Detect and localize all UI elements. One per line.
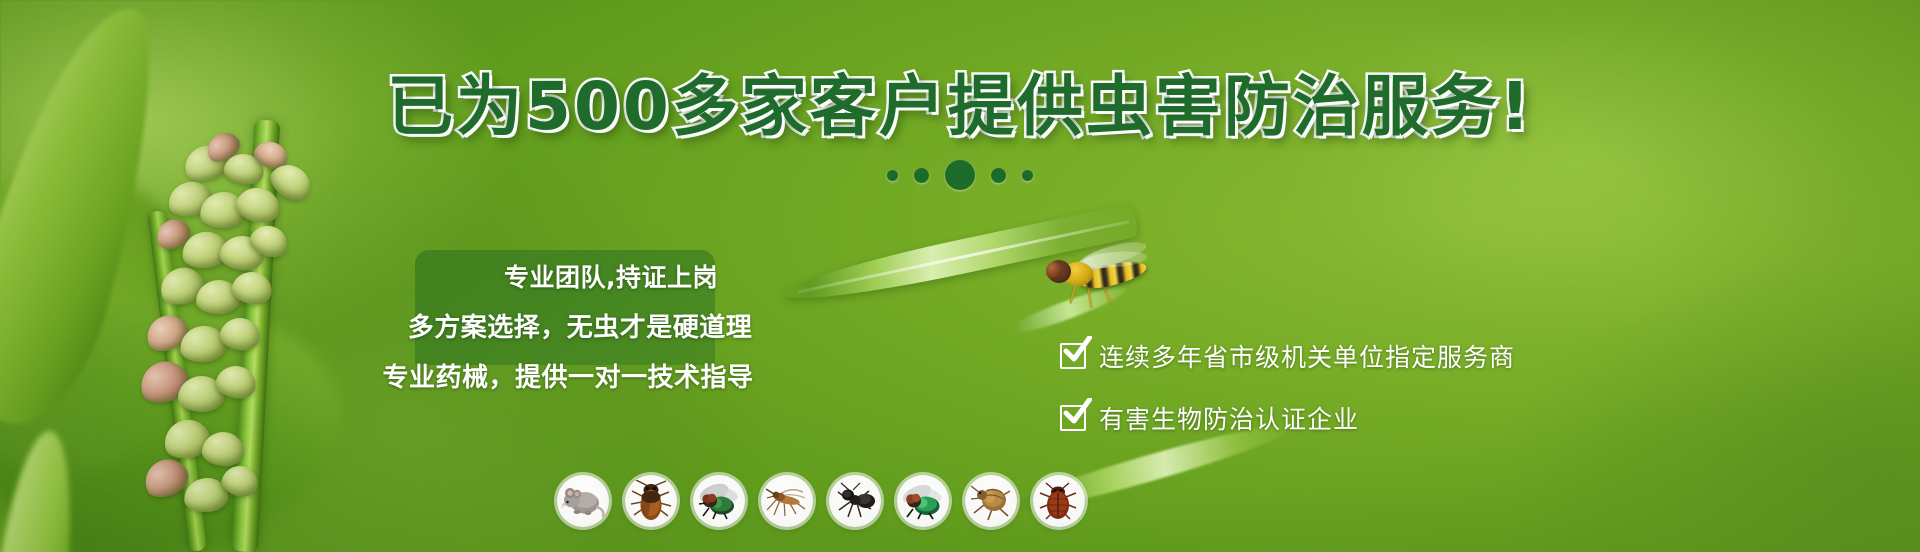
selling-points-list: 专业团队,持证上岗 多方案选择，无虫才是硬道理 专业药械，提供一对一技术指导 bbox=[330, 258, 800, 394]
greenfly-icon[interactable] bbox=[897, 475, 949, 527]
checklist-item: 连续多年省市级机关单位指定服务商 bbox=[1060, 338, 1515, 374]
decor-dot-small-left bbox=[887, 170, 898, 181]
checkbox-checked-icon bbox=[1060, 343, 1086, 369]
flea-icon[interactable] bbox=[965, 475, 1017, 527]
cockroach-icon[interactable] bbox=[625, 475, 677, 527]
pest-icon-row bbox=[557, 475, 1085, 527]
selling-point-2: 多方案选择，无虫才是硬道理 bbox=[330, 307, 800, 344]
decor-dot-small-right bbox=[1022, 170, 1033, 181]
decor-dot-large bbox=[945, 160, 975, 190]
banner-headline-text: 已为500多家客户提供虫害防治服务! bbox=[387, 68, 1533, 145]
decorative-dots bbox=[0, 160, 1920, 190]
selling-point-1: 专业团队,持证上岗 bbox=[330, 258, 800, 294]
rat-icon[interactable] bbox=[557, 475, 609, 527]
banner-headline: 已为500多家客户提供虫害防治服务! bbox=[0, 74, 1920, 140]
ant-icon[interactable] bbox=[829, 475, 881, 527]
decor-dot-medium-left bbox=[914, 168, 929, 183]
checklist-item: 有害生物防治认证企业 bbox=[1060, 400, 1515, 436]
selling-point-3: 专业药械，提供一对一技术指导 bbox=[330, 357, 800, 394]
mosquito-icon[interactable] bbox=[761, 475, 813, 527]
promotional-banner: 已为500多家客户提供虫害防治服务! 专业团队,持证上岗 多方案选择，无虫才是硬… bbox=[0, 0, 1920, 552]
checklist-item-label: 有害生物防治认证企业 bbox=[1099, 400, 1359, 436]
decor-dot-medium-right bbox=[991, 168, 1006, 183]
credentials-checklist: 连续多年省市级机关单位指定服务商 有害生物防治认证企业 bbox=[1060, 338, 1515, 436]
checkbox-checked-icon bbox=[1060, 405, 1086, 431]
bedbug-icon[interactable] bbox=[1033, 475, 1085, 527]
checklist-item-label: 连续多年省市级机关单位指定服务商 bbox=[1099, 338, 1515, 374]
housefly-icon[interactable] bbox=[693, 475, 745, 527]
